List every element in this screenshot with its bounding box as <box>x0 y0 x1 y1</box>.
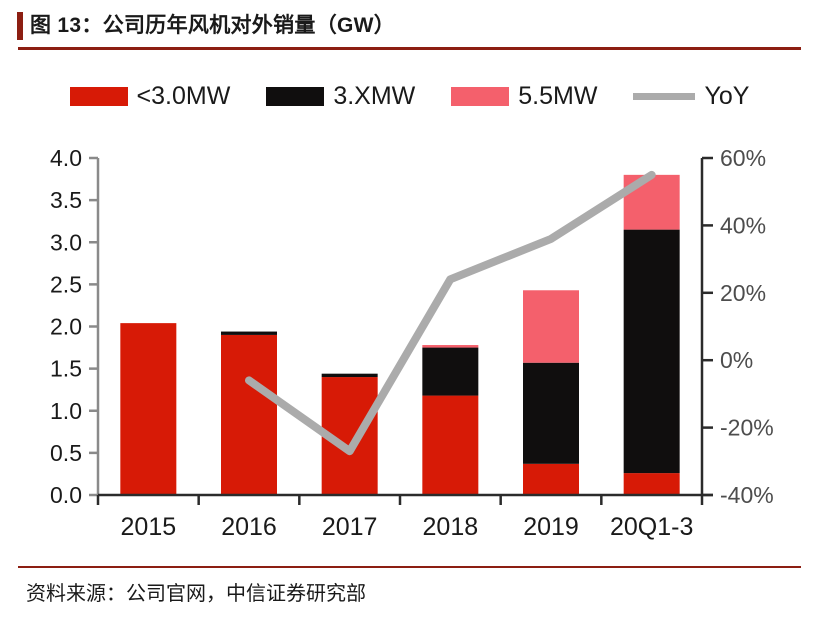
right-axis-tick-label: 0% <box>720 347 753 373</box>
left-axis-tick-label: 2.0 <box>50 314 82 340</box>
left-axis-tick-label: 2.5 <box>50 271 82 297</box>
bar-segment <box>221 335 277 495</box>
right-axis-tick-label: 40% <box>720 212 766 238</box>
left-axis-tick-label: 3.0 <box>50 229 82 255</box>
bar-segment <box>624 473 680 495</box>
bar-segment <box>422 345 478 348</box>
left-axis-tick-label: 1.0 <box>50 398 82 424</box>
x-axis-category-label: 20Q1-3 <box>610 513 693 541</box>
right-axis: -40%-20%0%20%40%60% <box>702 145 774 508</box>
figure-source: 资料来源：公司官网，中信证券研究部 <box>26 577 366 606</box>
bar-segment <box>422 396 478 495</box>
left-axis-tick-label: 1.5 <box>50 356 82 382</box>
bar-segment <box>120 323 176 495</box>
right-axis-tick-label: 60% <box>720 145 766 171</box>
left-axis-tick-label: 3.5 <box>50 187 82 213</box>
right-axis-tick-label: -40% <box>720 482 774 508</box>
x-axis-category-label: 2015 <box>121 513 177 541</box>
left-axis-tick-label: 0.0 <box>50 482 82 508</box>
x-axis-category-label: 2018 <box>423 513 479 541</box>
bar-segment <box>523 290 579 362</box>
right-axis-tick-label: 20% <box>720 280 766 306</box>
bar-segment <box>221 332 277 335</box>
left-axis-tick-label: 0.5 <box>50 440 82 466</box>
x-axis-category-label: 2016 <box>221 513 277 541</box>
x-axis: 2015201620172018201920Q1-3 <box>98 495 713 541</box>
footer-divider <box>18 566 801 568</box>
left-axis: 0.00.51.01.52.02.53.03.54.0 <box>50 145 98 508</box>
bar-segment <box>523 464 579 495</box>
chart-svg: 0.00.51.01.52.02.53.03.54.0 -40%-20%0%20… <box>0 0 819 619</box>
left-axis-tick-label: 4.0 <box>50 145 82 171</box>
right-axis-tick-label: -20% <box>720 415 774 441</box>
x-axis-category-label: 2017 <box>322 513 378 541</box>
chart-plot-area: 0.00.51.01.52.02.53.03.54.0 -40%-20%0%20… <box>0 0 819 619</box>
bar-series-group <box>120 175 679 495</box>
bar-segment <box>624 230 680 473</box>
bar-segment <box>422 348 478 396</box>
bar-segment <box>322 374 378 377</box>
bar-segment <box>523 363 579 464</box>
x-axis-category-label: 2019 <box>523 513 579 541</box>
